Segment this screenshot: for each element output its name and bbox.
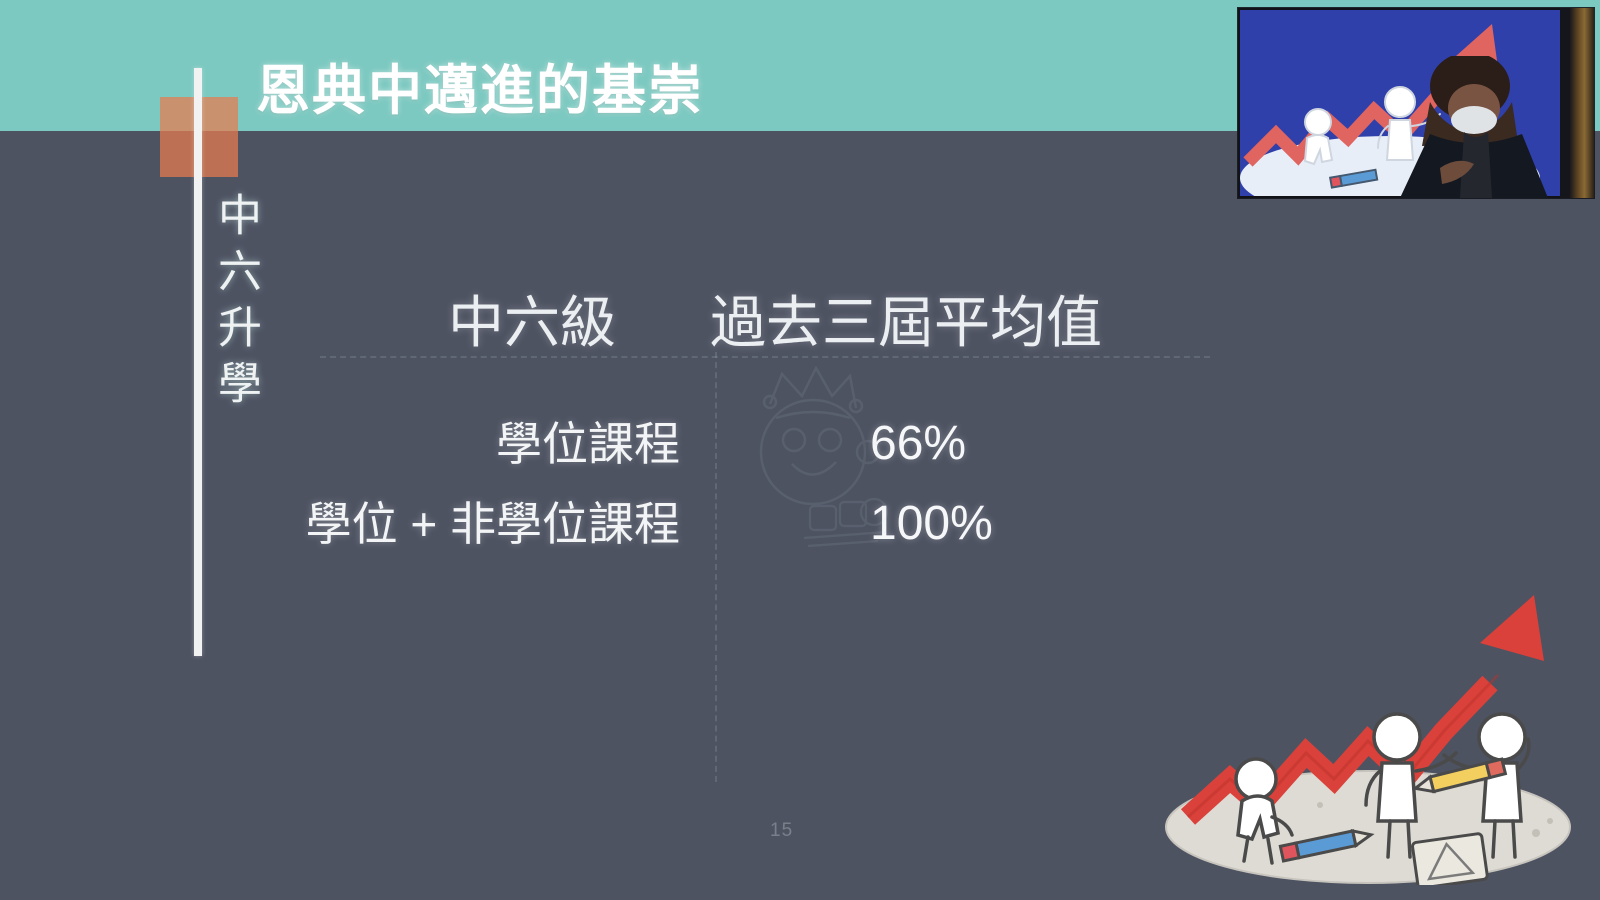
table-row: 學位 + 非學位課程 100% [300, 488, 1200, 560]
row-label: 學位課程 [496, 408, 680, 480]
section-side-label: 中六升學 [212, 192, 264, 416]
divider-horizontal [320, 356, 1210, 358]
accent-vertical-rule [194, 68, 202, 656]
table-row: 學位課程 66% [300, 408, 1200, 480]
page-number: 15 [770, 820, 793, 842]
presenter-video-overlay[interactable] [1238, 8, 1594, 198]
row-value: 66% [870, 408, 966, 480]
growth-arrow-illustration [1120, 565, 1580, 885]
content-area: 中六級 過去三屆平均值 學位課程 66% 學位 + 非學位課程 100% [300, 260, 1200, 590]
row-value: 100% [870, 488, 993, 560]
row-label: 學位 + 非學位課程 [306, 488, 680, 560]
column-header-left: 中六級 [448, 278, 616, 359]
slide-title: 恩典中邁進的基崇 [256, 46, 704, 125]
column-header-right: 過去三屆平均值 [710, 278, 1102, 359]
room-doorframe [1560, 8, 1594, 198]
presenter-figure [1378, 56, 1563, 198]
presentation-slide: 恩典中邁進的基崇 中六升學 中六級 過去三屆平均值 學位課程 66% 學位 + … [0, 0, 1600, 900]
